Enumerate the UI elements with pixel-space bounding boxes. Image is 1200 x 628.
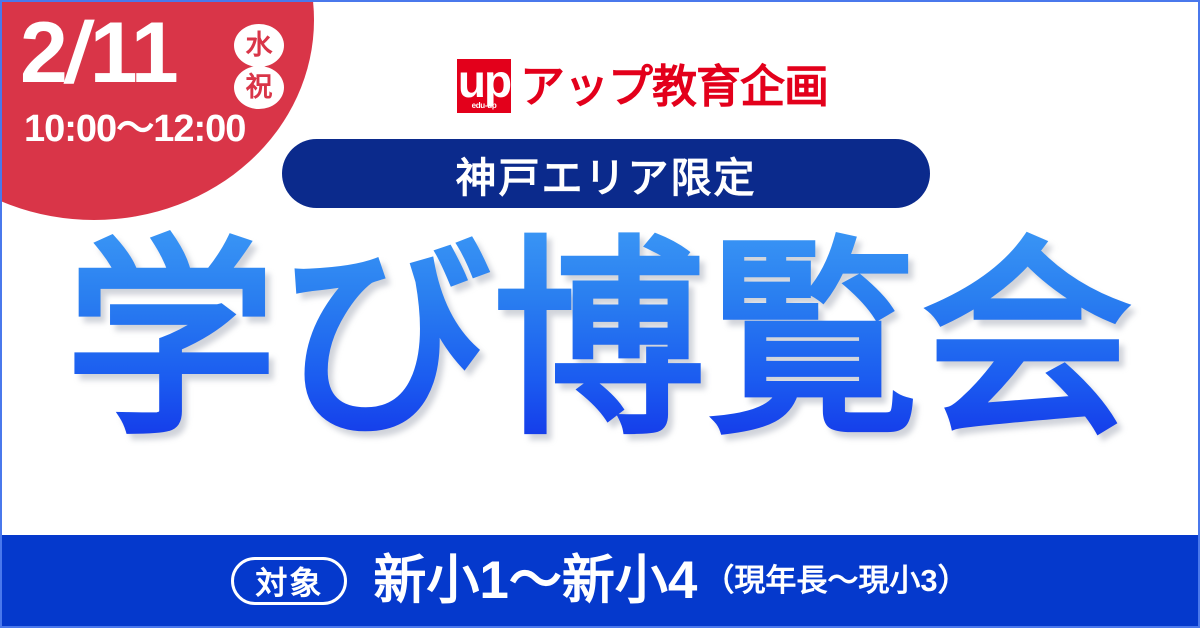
up-logo-subtext: edu-up <box>457 102 511 110</box>
up-logo-mark: up edu-up <box>457 59 511 113</box>
event-date-month: 2 <box>20 5 66 101</box>
event-date-day: 11 <box>90 5 177 101</box>
day-of-week-kanji: 水 <box>234 24 284 67</box>
event-time: 10:00〜12:00 <box>24 110 245 148</box>
target-chip-label: 対象 <box>255 558 323 604</box>
target-grades: 新小1〜新小4 <box>373 554 697 607</box>
event-banner: 2/11 水 祝 10:00〜12:00 up edu-up アップ教育企画 神… <box>0 0 1200 628</box>
area-limited-pill: 神戸エリア限定 <box>282 139 930 208</box>
target-audience-bar: 対象 新小1〜新小4 （現年長〜現小3） <box>2 535 1198 626</box>
page-title-text: 学び博覧会 <box>65 227 1135 456</box>
area-limited-label: 神戸エリア限定 <box>456 144 757 204</box>
holiday-kanji: 祝 <box>234 66 284 109</box>
target-chip: 対象 <box>231 557 347 605</box>
date-badge: 2/11 水 祝 10:00〜12:00 <box>0 0 314 220</box>
brand-name: アップ教育企画 <box>520 64 828 109</box>
date-badge-content: 2/11 水 祝 10:00〜12:00 <box>2 2 314 220</box>
brand-logo: up edu-up アップ教育企画 <box>457 57 828 115</box>
day-of-week-badge: 水 祝 <box>230 24 292 114</box>
up-logo-letters: up <box>458 59 510 103</box>
page-title: 学び博覧会 <box>2 227 1198 456</box>
target-grades-note: （現年長〜現小3） <box>703 565 968 596</box>
